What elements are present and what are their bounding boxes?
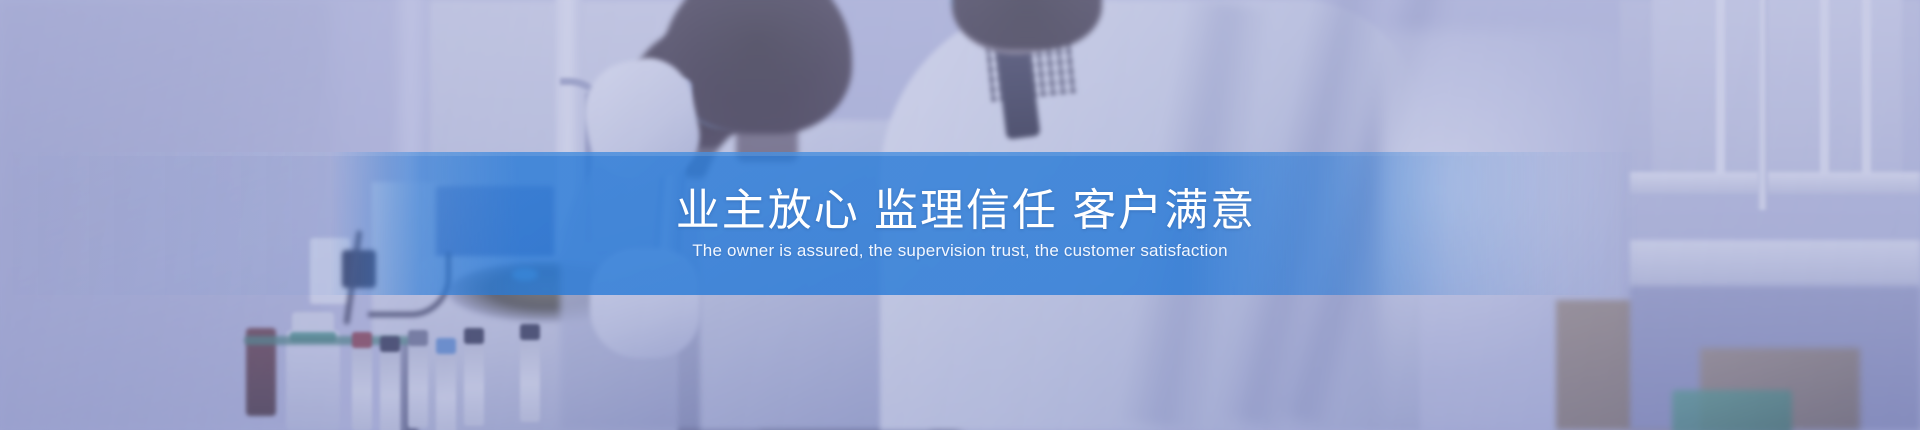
banner-text-block: 业主放心 监理信任 客户满意 The owner is assured, the…	[0, 152, 1920, 295]
hero-banner: 业主放心 监理信任 客户满意 The owner is assured, the…	[0, 0, 1920, 430]
banner-subline: The owner is assured, the supervision tr…	[692, 241, 1228, 261]
banner-headline: 业主放心 监理信任 客户满意	[664, 186, 1256, 235]
